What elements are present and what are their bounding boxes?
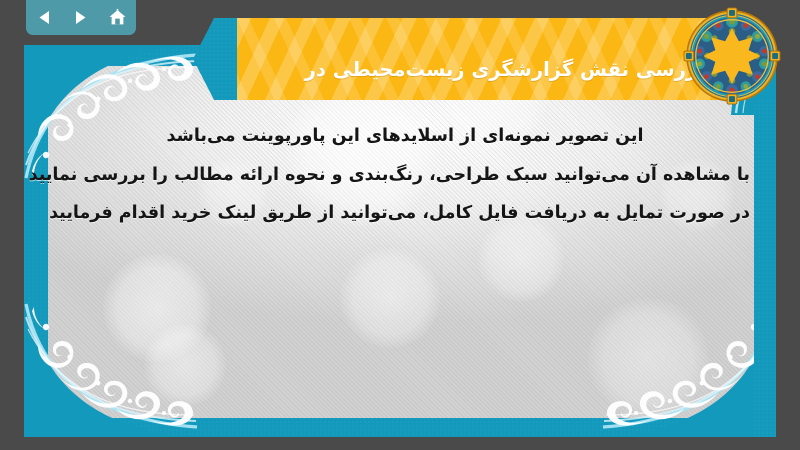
persian-medallion-ornament — [683, 7, 781, 105]
presentation-slide: بررسی نقش گزارشگری زیست‌محیطی در ایجاد ا… — [0, 0, 800, 450]
body-line-2: با مشاهده آن می‌توانید سبک طراحی، رنگ‌بن… — [60, 167, 750, 185]
bokeh-circle — [340, 248, 440, 348]
next-slide-button[interactable] — [68, 5, 94, 31]
slide-body-text: این تصویر نمونه‌ای از اسلایدهای این پاور… — [60, 128, 750, 244]
slide-title-banner: بررسی نقش گزارشگری زیست‌محیطی در ایجاد ا… — [237, 18, 737, 100]
body-line-1: این تصویر نمونه‌ای از اسلایدهای این پاور… — [60, 128, 750, 146]
slide-title: بررسی نقش گزارشگری زیست‌محیطی در ایجاد ا… — [237, 18, 737, 100]
triangle-left-icon — [36, 9, 53, 26]
bokeh-circle — [144, 324, 226, 406]
right-teal-strip — [754, 100, 776, 437]
triangle-right-icon — [72, 9, 89, 26]
slide-title-line-1: بررسی نقش گزارشگری زیست‌محیطی در — [295, 56, 715, 84]
home-button[interactable] — [105, 5, 131, 31]
home-icon — [108, 8, 127, 27]
slide-navigation-bar — [26, 0, 136, 35]
bokeh-circle — [103, 254, 211, 362]
previous-slide-button[interactable] — [31, 5, 57, 31]
bokeh-circle — [588, 298, 708, 418]
body-line-3: در صورت تمایل به دریافت فایل کامل، می‌تو… — [60, 205, 750, 223]
